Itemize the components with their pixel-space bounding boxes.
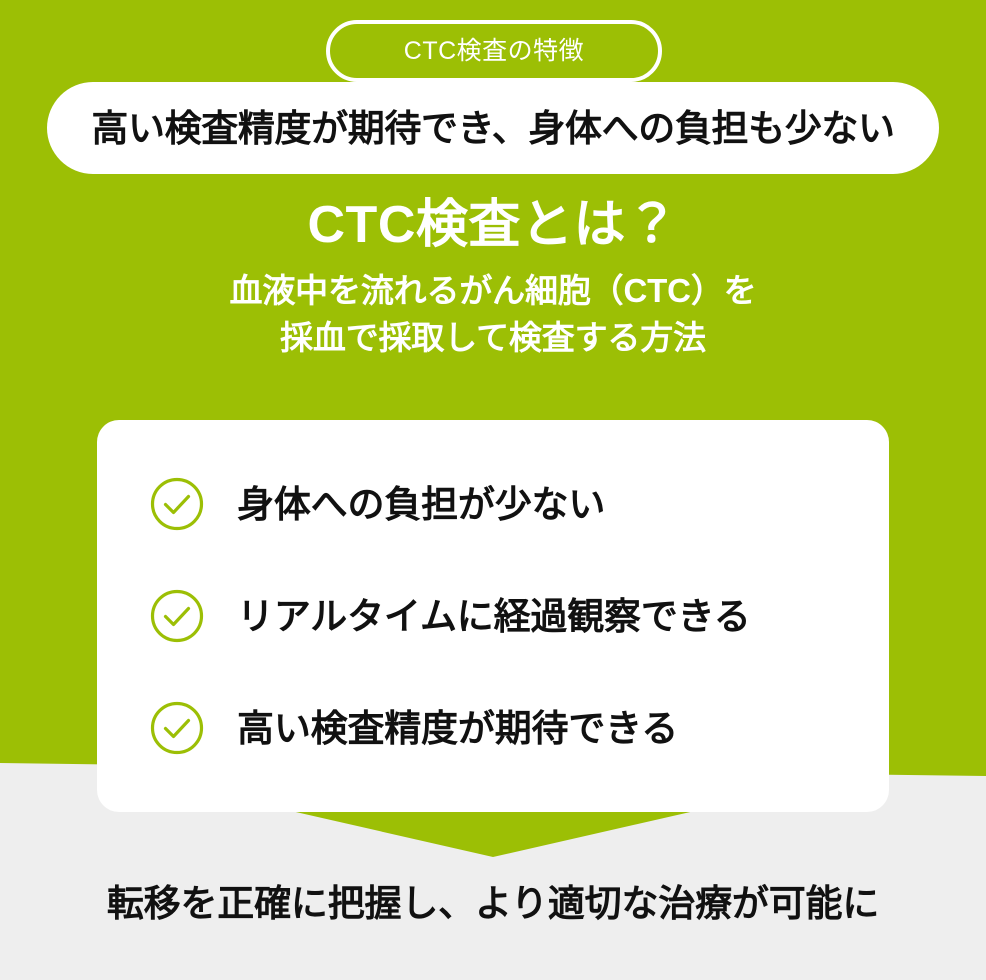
- feature-list: 身体への負担が少ない リアルタイムに経過観察できる 高い検査精度が期待できる: [149, 448, 889, 784]
- hero-text-block: CTC検査とは？ 血液中を流れるがん細胞（CTC）を 採血で採取して検査する方法: [0, 196, 986, 362]
- headline-banner-text: 高い検査精度が期待でき、身体への負担も少ない: [91, 110, 894, 147]
- infographic-root: CTC検査の特徴 高い検査精度が期待でき、身体への負担も少ない CTC検査とは？…: [0, 0, 986, 980]
- hero-title: CTC検査とは？: [0, 196, 986, 254]
- section-badge: CTC検査の特徴: [326, 20, 662, 82]
- list-item-label: 身体への負担が少ない: [237, 486, 605, 523]
- footer-note: 転移を正確に把握し、より適切な治療が可能に: [0, 885, 986, 922]
- check-circle-icon: [149, 476, 205, 532]
- list-item: 身体への負担が少ない: [149, 448, 889, 560]
- list-item: リアルタイムに経過観察できる: [149, 560, 889, 672]
- check-circle-icon: [149, 588, 205, 644]
- hero-lead: 血液中を流れるがん細胞（CTC）を 採血で採取して検査する方法: [0, 268, 986, 362]
- arrow-down-icon: [265, 805, 721, 857]
- list-item-label: リアルタイムに経過観察できる: [237, 598, 751, 635]
- headline-banner: 高い検査精度が期待でき、身体への負担も少ない: [47, 82, 939, 174]
- check-circle-icon: [149, 700, 205, 756]
- footer-note-text: 転移を正確に把握し、より適切な治療が可能に: [107, 883, 879, 924]
- list-item-label: 高い検査精度が期待できる: [237, 710, 678, 747]
- section-badge-label: CTC検査の特徴: [404, 39, 584, 64]
- hero-lead-line-2: 採血で採取して検査する方法: [280, 319, 706, 356]
- hero-lead-line-1: 血液中を流れるがん細胞（CTC）を: [229, 272, 756, 309]
- feature-card: 身体への負担が少ない リアルタイムに経過観察できる 高い検査精度が期待できる: [97, 420, 889, 812]
- list-item: 高い検査精度が期待できる: [149, 672, 889, 784]
